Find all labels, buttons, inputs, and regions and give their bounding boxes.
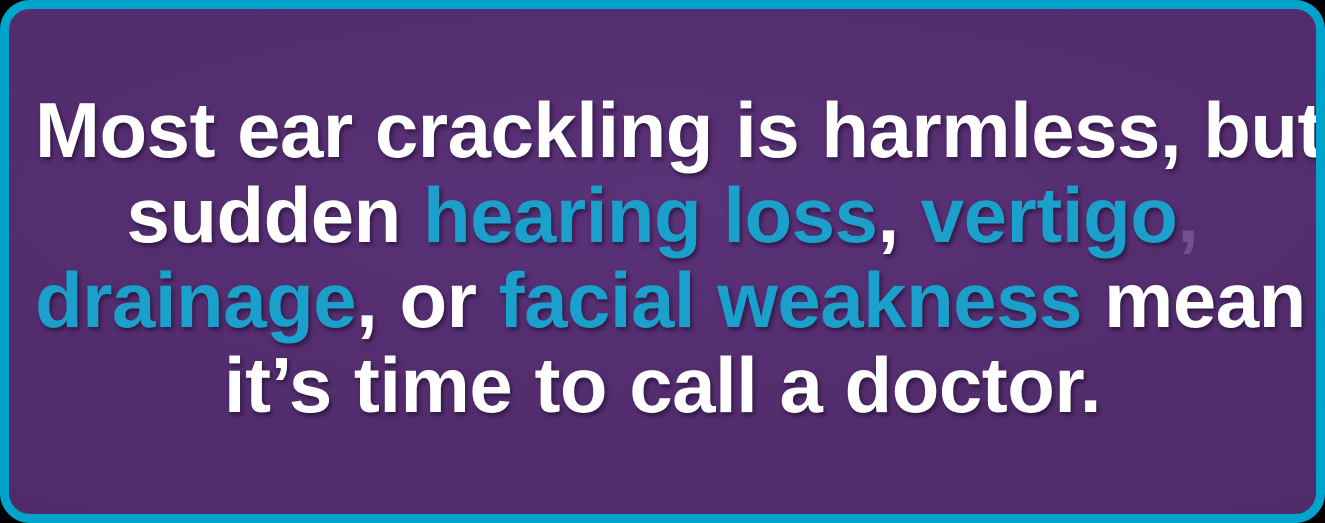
quote-segment-dim-comma: , xyxy=(1177,171,1198,259)
quote-segment-plain: it’s time to call a doctor. xyxy=(224,341,1101,429)
quote-highlight-vertigo: vertigo xyxy=(921,171,1178,259)
quote-highlight-facial-weakness: facial weakness xyxy=(499,256,1082,344)
quote-segment-plain: sudden xyxy=(126,171,423,259)
quote-highlight-hearing-loss: hearing loss xyxy=(423,171,877,259)
quote-line-3: drainage, or facial weakness mean xyxy=(35,258,1290,343)
quote-segment-plain: mean xyxy=(1082,256,1306,344)
quote-text: Most ear crackling is harmless, but sudd… xyxy=(9,88,1316,428)
quote-line-4: it’s time to call a doctor. xyxy=(35,343,1290,428)
quote-highlight-drainage: drainage xyxy=(35,256,356,344)
pull-quote-card: Most ear crackling is harmless, but sudd… xyxy=(0,0,1325,523)
quote-line-1: Most ear crackling is harmless, but xyxy=(35,88,1290,173)
quote-segment-plain: , or xyxy=(356,256,499,344)
quote-line-2: sudden hearing loss, vertigo, xyxy=(35,173,1290,258)
quote-segment-plain: Most ear crackling is harmless, but xyxy=(35,86,1323,174)
quote-segment-plain: , xyxy=(877,171,920,259)
